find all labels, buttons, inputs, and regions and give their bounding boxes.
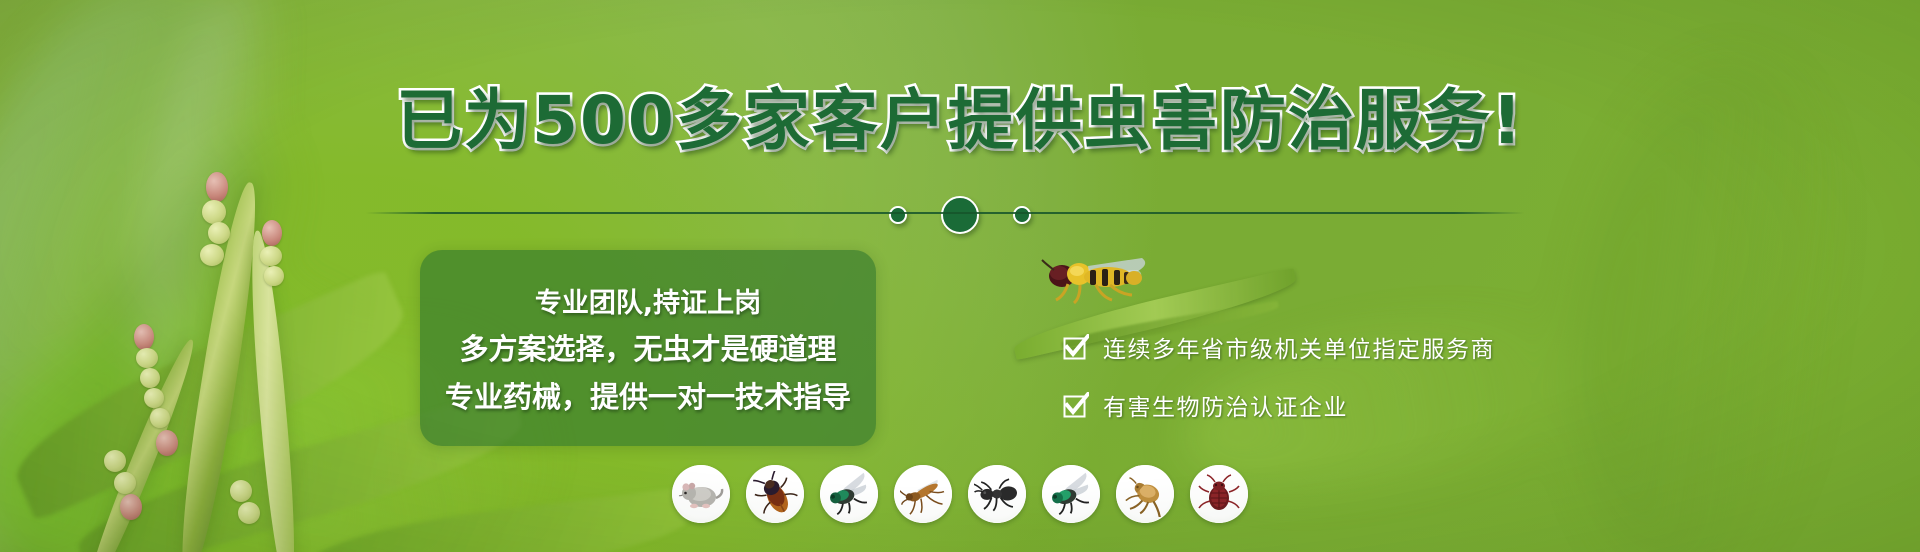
bedbug-icon [1196,471,1242,517]
pest-circle-mosquito[interactable] [894,465,952,523]
dot-small-left [889,206,907,224]
decorative-dots [0,196,1920,234]
mosquito-icon [900,471,946,517]
pest-circle-cockroach[interactable] [746,465,804,523]
dot-large-center [941,196,979,234]
pest-circle-housefly[interactable] [820,465,878,523]
check-box-icon [1063,392,1089,418]
dot-small-right [1013,206,1031,224]
pest-control-hero-banner: 已为500多家客户提供虫害防治服务! 专业团队,持证上岗 多方案选择，无虫才是硬… [0,0,1920,552]
feature-list: 专业团队,持证上岗 多方案选择，无虫才是硬道理 专业药械，提供一对一技术指导 [420,250,876,446]
pest-circle-flea[interactable] [1116,465,1174,523]
housefly-icon [826,471,872,517]
rodent-icon [678,471,724,517]
credentials-checklist: 连续多年省市级机关单位指定服务商 有害生物防治认证企业 [1063,330,1623,422]
blowfly-icon [1048,471,1094,517]
hoverfly-photo [1038,246,1158,306]
banner-headline-text: 已为500多家客户提供虫害防治服务! [396,82,1524,159]
pest-icon-row [0,465,1920,523]
cockroach-icon [752,471,798,517]
flea-icon [1122,471,1168,517]
checklist-item: 有害生物防治认证企业 [1063,388,1623,422]
pest-circle-bedbug[interactable] [1190,465,1248,523]
check-box-icon [1063,334,1089,360]
divider-rule [366,212,1524,214]
banner-headline: 已为500多家客户提供虫害防治服务! [0,88,1920,154]
pest-circle-rodent[interactable] [672,465,730,523]
feature-line-3: 专业药械，提供一对一技术指导 [445,374,851,416]
pest-circle-blowfly[interactable] [1042,465,1100,523]
feature-line-2: 多方案选择，无虫才是硬道理 [459,326,836,368]
feature-line-1: 专业团队,持证上岗 [535,281,761,320]
ant-icon [974,471,1020,517]
checklist-item-text: 有害生物防治认证企业 [1103,388,1348,422]
checklist-item-text: 连续多年省市级机关单位指定服务商 [1103,330,1495,364]
pest-circle-ant[interactable] [968,465,1026,523]
checklist-item: 连续多年省市级机关单位指定服务商 [1063,330,1623,364]
